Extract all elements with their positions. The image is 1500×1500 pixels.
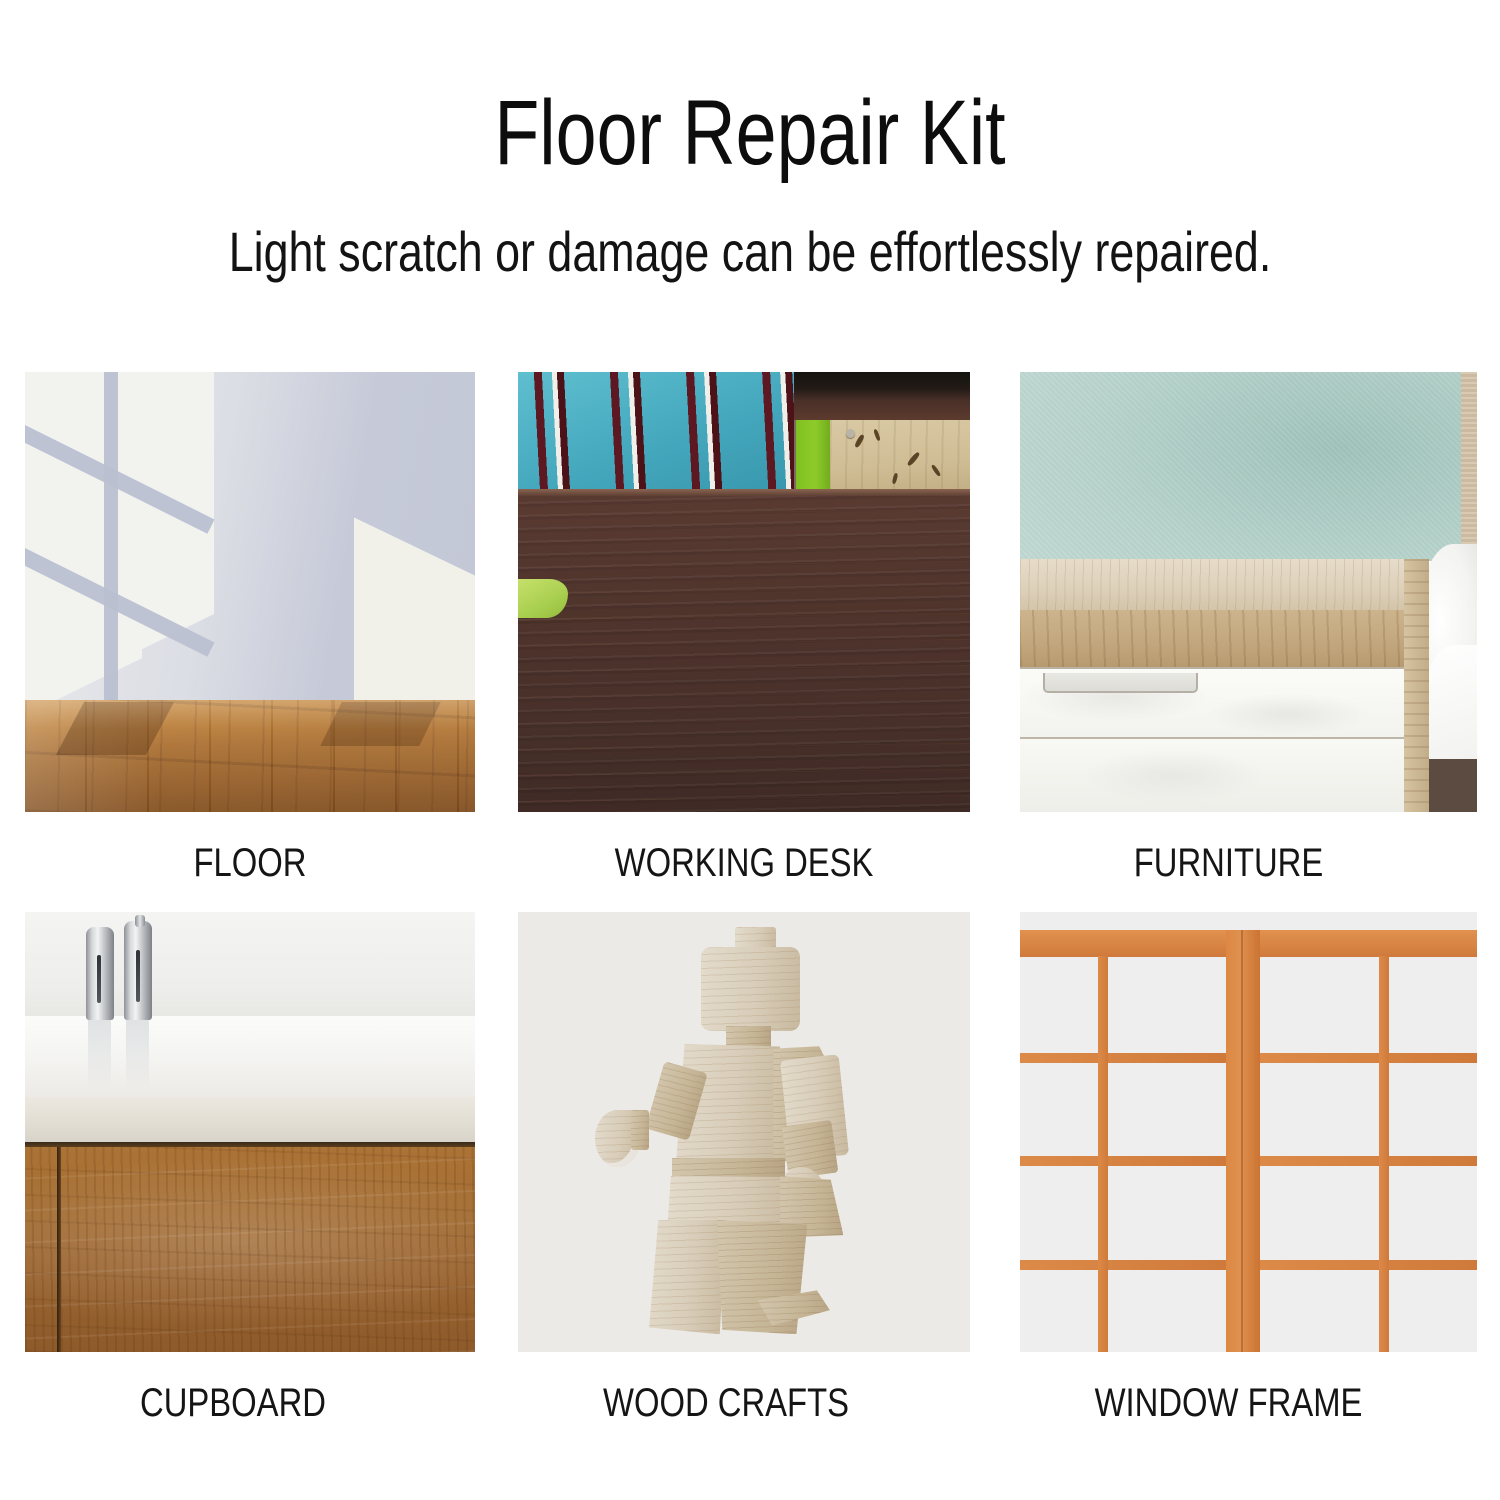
nightstand-top: [1020, 559, 1404, 612]
desk-surface: [518, 489, 970, 812]
nightstand-side-panel: [1404, 559, 1429, 812]
striped-fabric: [518, 372, 794, 491]
grinder-knob: [135, 915, 145, 927]
wood-crafts-image: [518, 912, 970, 1352]
grinder-window: [97, 955, 101, 1003]
caption-furniture: FURNITURE: [1041, 840, 1416, 886]
caption-floor: FLOOR: [66, 840, 435, 886]
salt-grinder: [86, 927, 114, 1019]
caption-cupboard: CUPBOARD: [49, 1380, 418, 1426]
use-case-gallery: FLOOR WORKING DESK: [0, 0, 1500, 1500]
gallery-item-working-desk[interactable]: [518, 372, 970, 812]
cupboard-image: [25, 912, 475, 1352]
floor-image: [25, 372, 475, 812]
window-frame-image: [1020, 912, 1477, 1352]
gallery-item-floor[interactable]: [25, 372, 475, 812]
frame-mullion-h2-left: [1020, 1156, 1226, 1166]
caption-wood-crafts: WOOD CRAFTS: [541, 1380, 912, 1426]
wall-wood-trim: [1461, 372, 1477, 561]
furniture-image: [1020, 372, 1477, 812]
gallery-item-wood-crafts[interactable]: [518, 912, 970, 1352]
nightstand-apron: [1020, 610, 1404, 667]
frame-mullion-h1-right: [1260, 1053, 1477, 1063]
figure-wrist-left: [631, 1110, 649, 1150]
frame-mullion-v1: [1098, 956, 1108, 1352]
window-mullion-shadow: [104, 372, 118, 715]
pepper-grinder: [124, 921, 152, 1020]
green-panel: [796, 420, 830, 493]
grinder-reflection-right: [126, 1018, 149, 1093]
frame-mullion-h3-right: [1260, 1260, 1477, 1270]
frame-mullion-h3-left: [1020, 1260, 1226, 1270]
figure-belt: [672, 1158, 785, 1178]
countertop-edge: [25, 1097, 475, 1143]
gallery-item-window-frame[interactable]: [1020, 912, 1477, 1352]
cabinet-wood-grain: [25, 1147, 475, 1352]
floor-gloss-overlay: [25, 700, 475, 812]
dark-shelf-bar: [794, 372, 970, 420]
figure-neck: [726, 1026, 771, 1048]
caption-window-frame: WINDOW FRAME: [1041, 1380, 1416, 1426]
frame-mullion-h1-left: [1020, 1053, 1226, 1063]
grinder-reflection-left: [88, 1018, 111, 1093]
wall-texture: [1020, 372, 1477, 561]
caption-working-desk: WORKING DESK: [559, 840, 930, 886]
figure-head: [701, 947, 800, 1031]
drawer-handle: [1043, 673, 1198, 693]
working-desk-image: [518, 372, 970, 812]
floor-shadow: [1422, 759, 1477, 812]
gallery-item-furniture[interactable]: [1020, 372, 1477, 812]
product-feature-page: Floor Repair Kit Light scratch or damage…: [0, 0, 1500, 1500]
grinder-window: [136, 950, 140, 1001]
frame-mullion-h2-right: [1260, 1156, 1477, 1166]
desk-front-edge: [518, 489, 970, 496]
drawer-lower: [1020, 737, 1404, 812]
gallery-item-cupboard[interactable]: [25, 912, 475, 1352]
figure-leg-left: [649, 1220, 726, 1334]
frame-stile-seam: [1241, 930, 1243, 1352]
cabinet-door-seam: [57, 1147, 61, 1352]
panel-screw: [846, 429, 855, 438]
frame-mullion-v2: [1379, 956, 1389, 1352]
